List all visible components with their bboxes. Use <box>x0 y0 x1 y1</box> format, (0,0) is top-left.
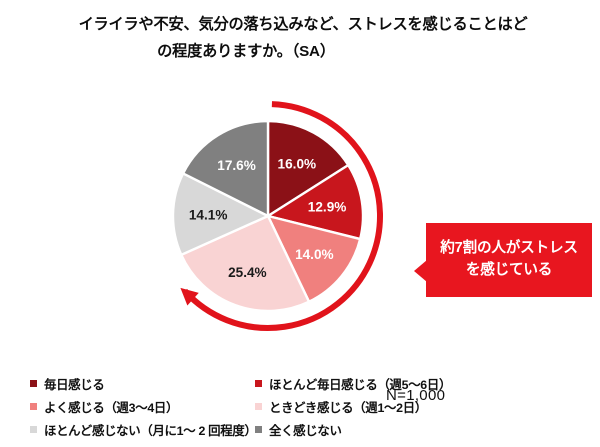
legend-swatch-icon <box>255 403 262 410</box>
pie-slice-value-label: 16.0% <box>278 157 317 172</box>
pie-slice-value-label: 25.4% <box>228 265 267 280</box>
legend-item[interactable]: ほとんど毎日感じる（週5〜6日） <box>255 375 570 393</box>
legend-item[interactable]: よく感じる（週3〜4日） <box>30 398 255 416</box>
pie-slice-value-label: 17.6% <box>217 158 256 173</box>
legend-item-label: ほとんど毎日感じる（週5〜6日） <box>269 375 451 393</box>
legend-swatch-icon <box>255 426 262 433</box>
legend-item[interactable]: 全く感じない <box>255 421 570 439</box>
legend-item-label: ほとんど感じない（月に1〜 2 回程度） <box>44 421 257 439</box>
callout-body: 約7割の人がストレス を感じている <box>426 223 592 297</box>
legend-item-label: よく感じる（週3〜4日） <box>44 398 178 416</box>
legend-swatch-icon <box>255 380 262 387</box>
callout-line-2: を感じている <box>466 260 552 282</box>
pie-slice-value-label: 14.1% <box>189 208 228 223</box>
legend-swatch-icon <box>30 403 37 410</box>
chart-area: 16.0%12.9%14.0%25.4%14.1%17.6% 約7割の人がストレ… <box>0 80 600 355</box>
legend-item-label: 毎日感じる <box>44 375 104 393</box>
pie-slice-value-label: 14.0% <box>295 247 334 262</box>
callout-line-1: 約7割の人がストレス <box>440 238 577 260</box>
legend-swatch-icon <box>30 426 37 433</box>
legend-item[interactable]: ほとんど感じない（月に1〜 2 回程度） <box>30 421 255 439</box>
legend-item-label: ときどき感じる（週1〜2日） <box>269 398 427 416</box>
pie-slice-value-label: 12.9% <box>308 199 347 214</box>
legend-swatch-icon <box>30 380 37 387</box>
page-title-line-2: の程度ありますか。（SA） <box>0 39 600 66</box>
legend-item[interactable]: 毎日感じる <box>30 375 255 393</box>
pie-chart: 16.0%12.9%14.0%25.4%14.1%17.6% <box>118 80 438 355</box>
legend-item-label: 全く感じない <box>269 421 342 439</box>
pie-chart-svg: 16.0%12.9%14.0%25.4%14.1%17.6% <box>118 80 438 355</box>
chart-legend: 毎日感じるほとんど毎日感じる（週5〜6日）よく感じる（週3〜4日）ときどき感じる… <box>30 372 570 441</box>
page-title: イライラや不安、気分の落ち込みなど、ストレスを感じることはど の程度ありますか。… <box>0 12 600 65</box>
page-title-line-1: イライラや不安、気分の落ち込みなど、ストレスを感じることはど <box>0 12 600 39</box>
legend-item[interactable]: ときどき感じる（週1〜2日） <box>255 398 570 416</box>
callout-banner: 約7割の人がストレス を感じている <box>414 223 592 297</box>
